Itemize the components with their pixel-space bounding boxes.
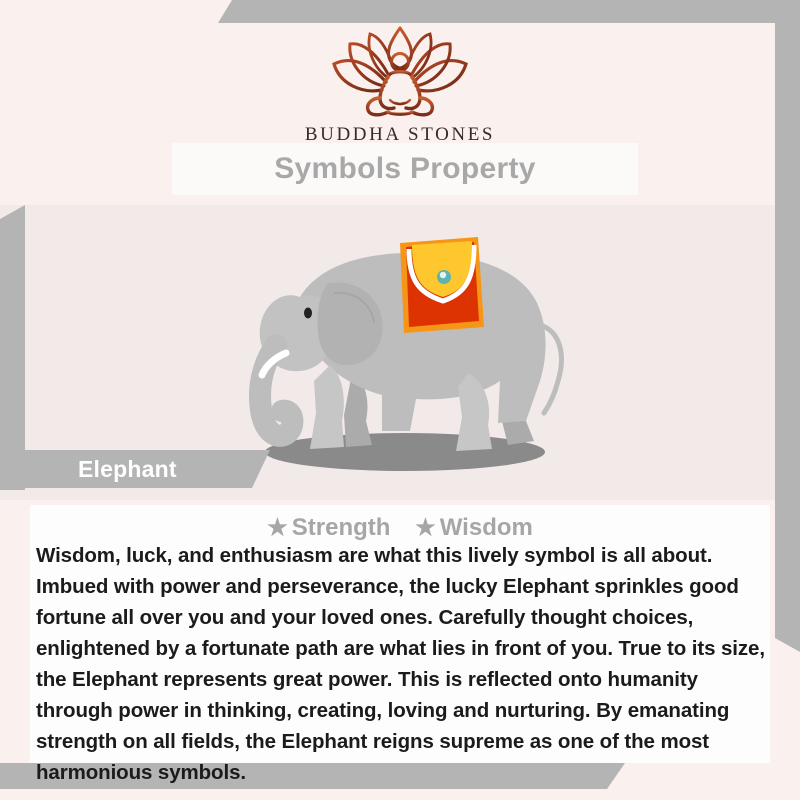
elephant-eye: [304, 308, 312, 319]
star-icon: ★: [267, 514, 288, 540]
attribute-label-wisdom: Wisdom: [440, 514, 533, 541]
attribute-item-wisdom: ★Wisdom: [415, 514, 533, 542]
page-title: Symbols Property: [274, 152, 536, 186]
symbol-name-banner: Elephant: [20, 450, 270, 488]
star-icon: ★: [415, 514, 436, 540]
symbol-property-card: BUDDHA STONES Symbols Property: [0, 0, 800, 800]
lotus-meditation-figure-icon: [324, 22, 476, 118]
symbol-description: Wisdom, luck, and enthusiasm are what th…: [36, 540, 770, 788]
attribute-list: ★Strength ★Wisdom: [0, 514, 800, 542]
attribute-label-strength: Strength: [292, 514, 391, 541]
decor-bar-top: [218, 0, 800, 23]
title-bar: Symbols Property: [172, 143, 638, 195]
elephant-shadow-icon: [265, 433, 545, 471]
symbol-name: Elephant: [78, 456, 177, 483]
attribute-item-strength: ★Strength: [267, 514, 390, 542]
brand-logo: BUDDHA STONES: [0, 22, 800, 146]
elephant-saddle: [400, 237, 484, 333]
